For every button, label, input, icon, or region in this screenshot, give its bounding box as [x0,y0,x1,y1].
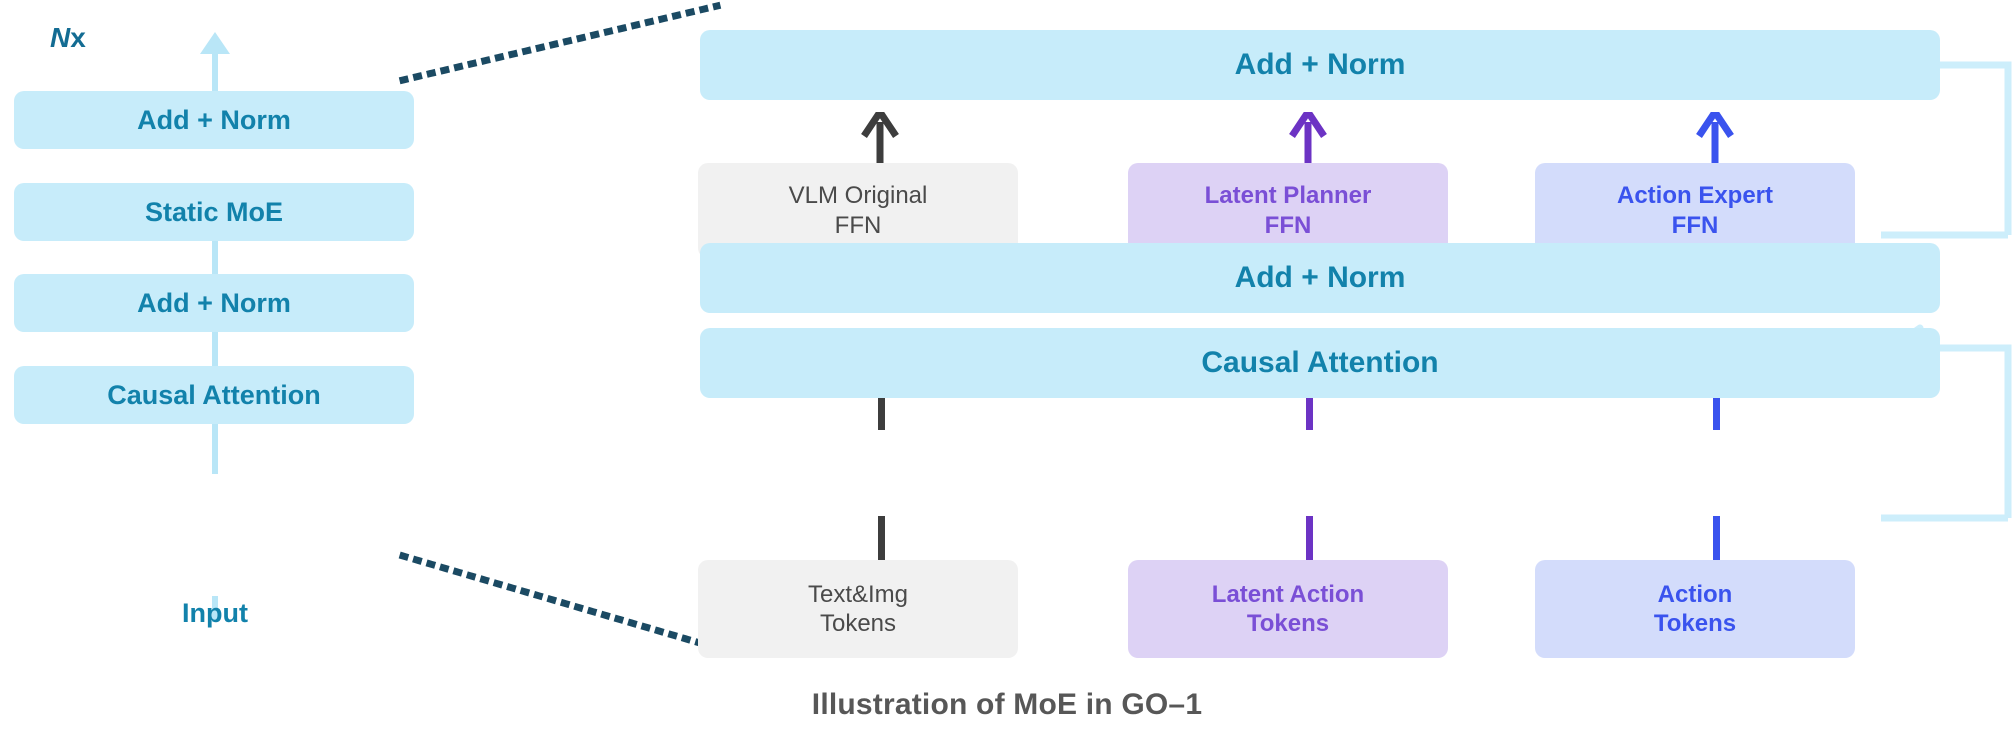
repeat-count-n: N [50,22,70,53]
token-box-latent-action[interactable]: Latent Action Tokens [1128,560,1448,658]
right-mid-add-norm-bar[interactable]: Add + Norm [700,243,1940,313]
arrow-ffn-text-to-topnorm [860,112,900,164]
arrow-ffn-action-to-topnorm [1695,112,1735,164]
left-block-static-moe[interactable]: Static MoE [14,183,414,241]
repeat-count-x: x [70,22,86,53]
connector-latent-tokens-to-attention [1306,516,1313,560]
left-input-label: Input [120,598,310,629]
diagram-canvas: Nx Add + Norm Static MoE Add + Norm Caus… [0,0,2014,748]
right-causal-attention-bar[interactable]: Causal Attention [700,328,1940,398]
repeat-count-label: Nx [50,22,86,54]
left-block-add-norm-bottom[interactable]: Add + Norm [14,274,414,332]
left-block-causal-attention[interactable]: Causal Attention [14,366,414,424]
left-block-add-norm-top[interactable]: Add + Norm [14,91,414,149]
token-box-text-img[interactable]: Text&Img Tokens [698,560,1018,658]
connector-action-tokens-to-attention [1713,516,1720,560]
connector-text-img-tokens-to-attention [878,516,885,560]
dotted-connector-top [395,0,725,90]
right-top-add-norm-bar[interactable]: Add + Norm [700,30,1940,100]
arrow-ffn-latent-to-topnorm [1288,112,1328,164]
dotted-connector-bottom [395,548,725,658]
token-box-action[interactable]: Action Tokens [1535,560,1855,658]
left-output-arrowhead [200,32,230,54]
figure-caption: Illustration of MoE in GO–1 [0,688,2014,722]
